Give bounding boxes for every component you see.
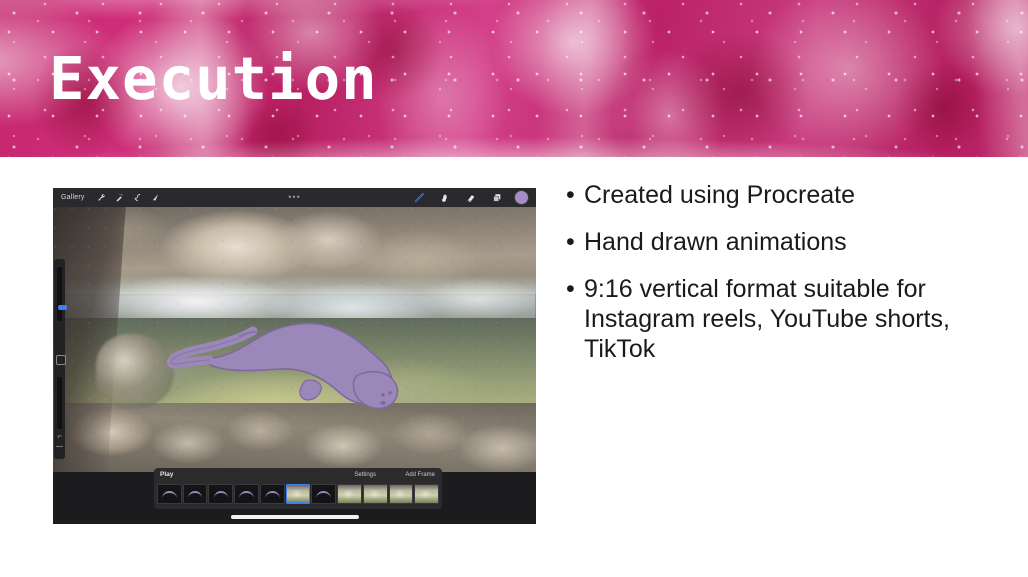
frame-photo-thumb	[287, 485, 310, 503]
bullet-text: 9:16 vertical format suitable for Instag…	[584, 274, 996, 364]
frame-photo-thumb	[364, 485, 387, 503]
slide-title: Execution	[49, 48, 378, 110]
frame-stroke-thumb	[214, 491, 229, 500]
adjustments-wand-icon[interactable]	[111, 188, 129, 207]
add-frame-button[interactable]: Add Frame	[405, 472, 435, 478]
animation-assist-panel: Play Settings Add Frame	[154, 468, 442, 509]
procreate-top-toolbar: Gallery •••	[53, 188, 536, 207]
animation-frame[interactable]	[260, 484, 285, 504]
presentation-slide: Execution • Created using Procreate • Ha…	[0, 0, 1028, 577]
frame-stroke-thumb	[239, 491, 254, 500]
list-item: • Created using Procreate	[566, 180, 996, 211]
procreate-right-tool-group	[410, 188, 529, 207]
selection-icon[interactable]	[129, 188, 147, 207]
procreate-app-screenshot: Gallery •••	[53, 188, 536, 524]
opacity-slider[interactable]	[57, 377, 62, 429]
procreate-left-tool-group	[93, 188, 165, 207]
play-button[interactable]: Play	[160, 471, 173, 478]
drawn-otter-artwork	[53, 207, 536, 472]
gallery-button[interactable]: Gallery	[61, 194, 85, 201]
animation-panel-header: Play Settings Add Frame	[154, 468, 442, 483]
list-item: • Hand drawn animations	[566, 227, 996, 258]
procreate-left-tool-rail: ↶	[54, 259, 65, 459]
color-swatch-button[interactable]	[514, 190, 529, 205]
bullet-marker-icon: •	[566, 180, 584, 211]
redo-icon[interactable]	[56, 446, 63, 451]
transform-icon[interactable]	[147, 188, 165, 207]
procreate-canvas[interactable]: ↶	[53, 207, 536, 472]
animation-frame[interactable]	[337, 484, 362, 504]
modify-square-icon[interactable]	[56, 355, 66, 365]
bullet-marker-icon: •	[566, 274, 584, 305]
bullet-text: Created using Procreate	[584, 180, 855, 210]
more-dots-icon[interactable]: •••	[288, 193, 300, 202]
slide-header-banner: Execution	[0, 0, 1028, 157]
list-item: • 9:16 vertical format suitable for Inst…	[566, 274, 996, 364]
layers-icon[interactable]	[488, 188, 506, 207]
animation-frame[interactable]	[414, 484, 439, 504]
frame-photo-thumb	[390, 485, 413, 503]
frame-photo-thumb	[338, 485, 361, 503]
frame-stroke-thumb	[316, 491, 331, 500]
actions-wrench-icon[interactable]	[93, 188, 111, 207]
paint-brush-icon[interactable]	[410, 188, 428, 207]
smudge-icon[interactable]	[436, 188, 454, 207]
undo-icon[interactable]: ↶	[56, 435, 63, 442]
animation-frame-strip	[157, 484, 439, 505]
frame-stroke-thumb	[188, 491, 203, 500]
animation-frame[interactable]	[208, 484, 233, 504]
animation-frame[interactable]	[363, 484, 388, 504]
frame-stroke-thumb	[162, 491, 177, 500]
brush-size-slider[interactable]	[57, 267, 62, 321]
home-indicator[interactable]	[231, 515, 359, 519]
animation-frame[interactable]	[234, 484, 259, 504]
animation-frame[interactable]	[311, 484, 336, 504]
frame-stroke-thumb	[265, 491, 280, 500]
animation-frame[interactable]	[389, 484, 414, 504]
animation-frame[interactable]	[157, 484, 182, 504]
brush-size-slider-thumb[interactable]	[58, 305, 67, 310]
bullet-marker-icon: •	[566, 227, 584, 258]
settings-button[interactable]: Settings	[354, 472, 376, 478]
animation-frame-selected[interactable]	[286, 484, 311, 504]
frame-photo-thumb	[415, 485, 438, 503]
animation-frame[interactable]	[183, 484, 208, 504]
eraser-icon[interactable]	[462, 188, 480, 207]
bullet-list: • Created using Procreate • Hand drawn a…	[566, 180, 996, 380]
bullet-text: Hand drawn animations	[584, 227, 847, 257]
